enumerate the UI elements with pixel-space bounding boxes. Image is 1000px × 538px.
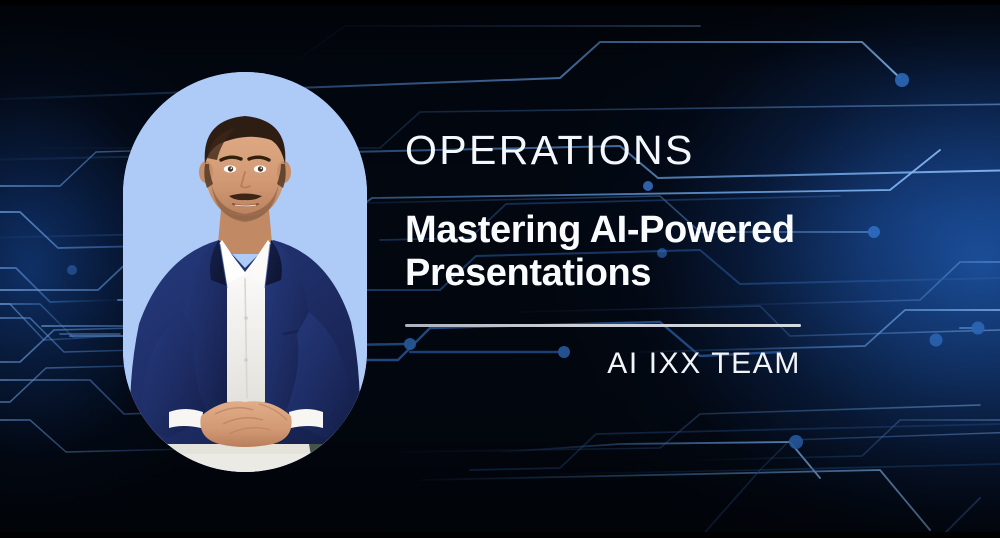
category-label: OPERATIONS — [405, 130, 801, 171]
team-byline: AI IXX TEAM — [405, 347, 801, 380]
letterbox-bar-bottom — [0, 532, 1000, 538]
title-divider — [405, 324, 801, 327]
presentation-title-slide: OPERATIONS Mastering AI-Powered Presenta… — [0, 0, 1000, 538]
portrait-illustration — [123, 72, 367, 472]
title-text-block: OPERATIONS Mastering AI-Powered Presenta… — [405, 130, 801, 380]
letterbox-bar-top — [0, 0, 1000, 5]
slide-title: Mastering AI-Powered Presentations — [405, 209, 801, 294]
speaker-portrait — [123, 72, 367, 472]
